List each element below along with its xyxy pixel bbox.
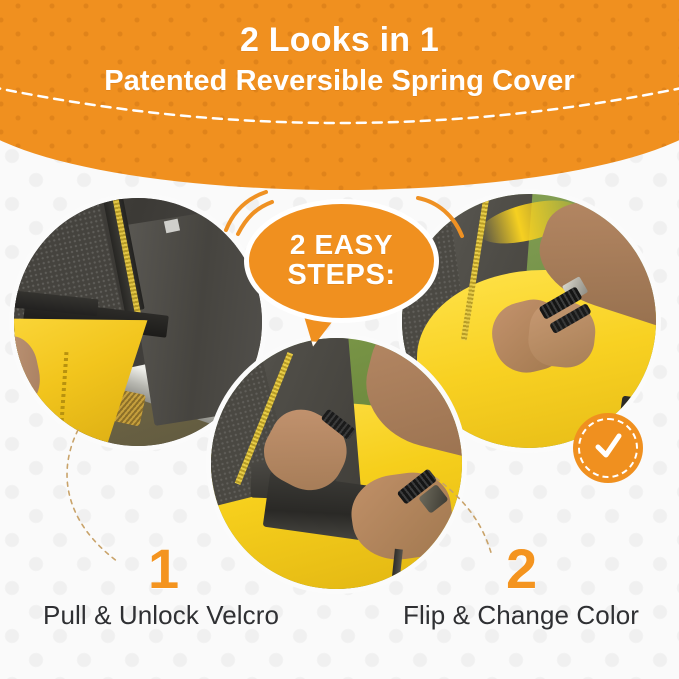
photo-step-1-mid bbox=[211, 338, 462, 589]
step-1-number: 1 bbox=[148, 541, 179, 597]
badge-dashed-ring bbox=[578, 418, 638, 478]
callout-line-1: 2 EASY bbox=[290, 231, 393, 260]
page-title: 2 Looks in 1 bbox=[240, 23, 439, 59]
callout-line-2: STEPS: bbox=[287, 261, 395, 291]
step-1-label: Pull & Unlock Velcro bbox=[43, 600, 279, 631]
connector-step-1 bbox=[67, 430, 118, 562]
check-badge bbox=[573, 413, 643, 483]
callout-speech-bubble: 2 EASY STEPS: bbox=[244, 199, 439, 323]
header-text-block: 2 Looks in 1 Patented Reversible Spring … bbox=[0, 0, 679, 130]
infographic-canvas: 2 Looks in 1 Patented Reversible Spring … bbox=[0, 0, 679, 679]
page-subtitle: Patented Reversible Spring Cover bbox=[104, 66, 575, 98]
callout-text: 2 EASY STEPS: bbox=[244, 199, 439, 323]
step-2-label: Flip & Change Color bbox=[403, 600, 639, 631]
step-2-number: 2 bbox=[506, 541, 537, 597]
